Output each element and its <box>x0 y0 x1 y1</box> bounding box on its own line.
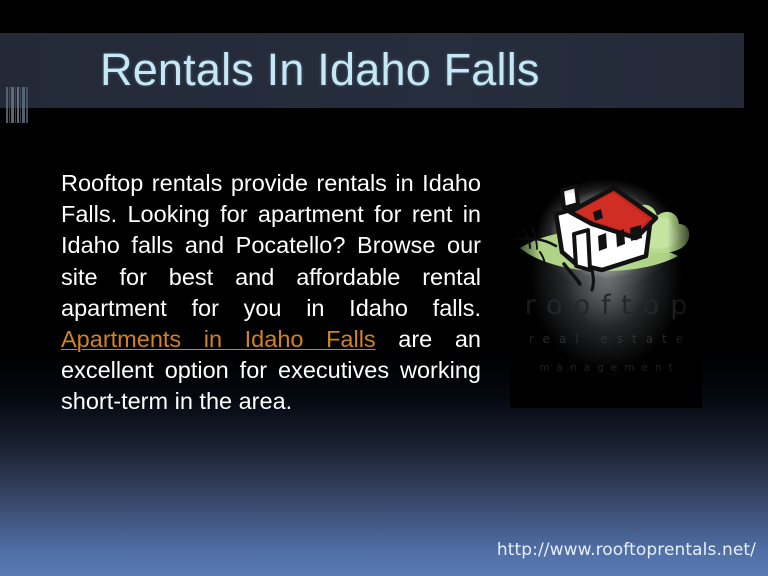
rooftop-logo: rooftop real estate management <box>510 160 702 408</box>
slide-canvas: Rentals In Idaho Falls Rooftop rentals p… <box>0 0 768 576</box>
footer-url[interactable]: http://www.rooftoprentals.net/ <box>0 540 756 560</box>
body-text-part-1: Rooftop rentals provide rentals in Idaho… <box>61 170 481 321</box>
barcode-stripes-icon <box>6 87 32 123</box>
logo-tagline-line1: real estate <box>510 332 702 346</box>
page-title: Rentals In Idaho Falls <box>100 36 700 104</box>
body-paragraph: Rooftop rentals provide rentals in Idaho… <box>61 168 481 418</box>
apartments-in-idaho-falls-link[interactable]: Apartments in Idaho Falls <box>61 326 376 352</box>
logo-tagline-line2: management <box>510 362 702 374</box>
logo-wordmark: rooftop <box>510 290 702 321</box>
